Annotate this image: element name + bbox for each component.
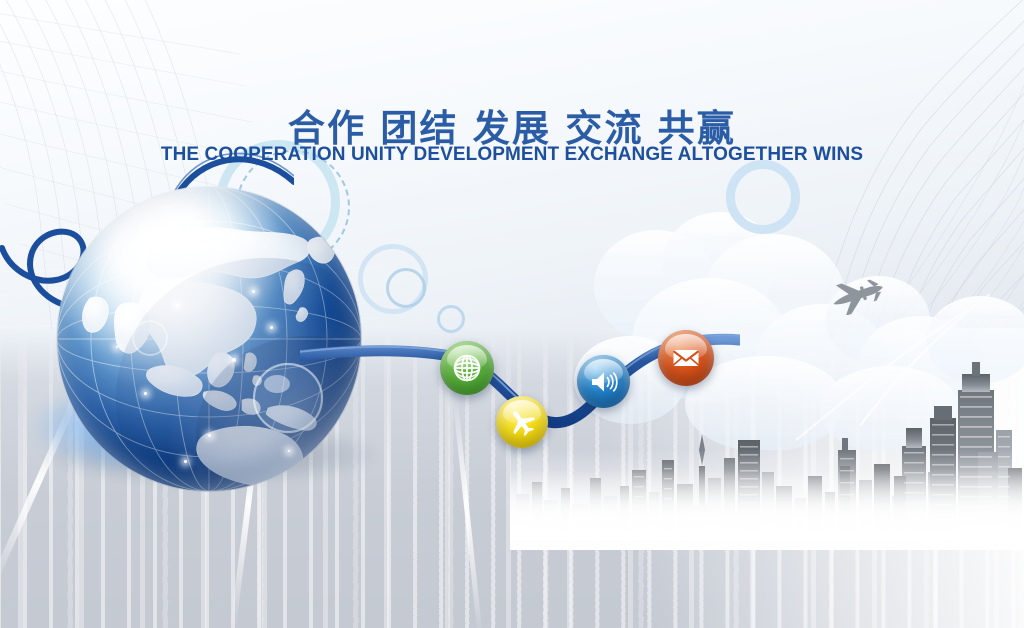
airplane-silhouette	[826, 275, 890, 315]
globe-icon	[451, 352, 483, 384]
banner-stage: 合作团结发展交流共赢 THE COOPERATION UNITY DEVELOP…	[0, 0, 1024, 628]
decorative-ring	[726, 160, 800, 234]
node-airplane[interactable]	[496, 396, 548, 448]
speaker-icon	[588, 366, 620, 398]
node-speaker[interactable]	[577, 355, 630, 408]
airplane-icon	[507, 407, 537, 437]
envelope-icon	[670, 342, 702, 374]
page-subtitle: THE COOPERATION UNITY DEVELOPMENT EXCHAN…	[0, 144, 1024, 166]
node-globe[interactable]	[440, 341, 494, 395]
node-envelope[interactable]	[658, 330, 714, 386]
